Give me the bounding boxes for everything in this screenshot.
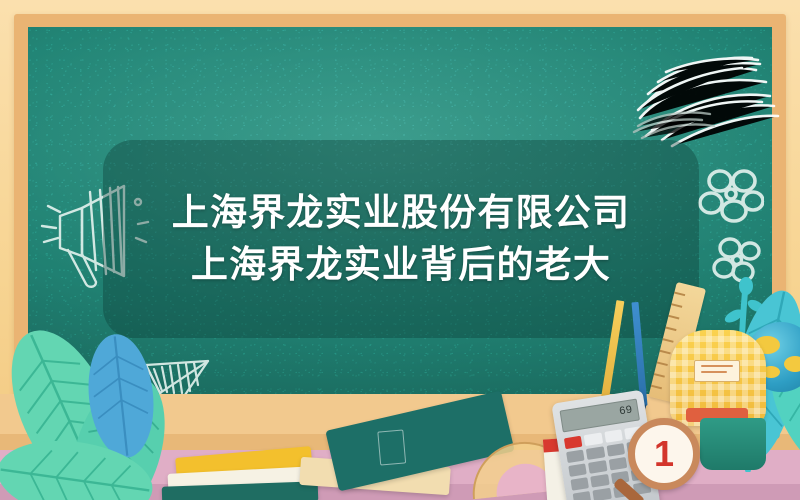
page-subtitle: 上海界龙实业背后的老大 xyxy=(191,240,611,290)
banner-canvas: 上海界龙实业股份有限公司 上海界龙实业背后的老大 xyxy=(0,0,800,500)
title-block: 上海界龙实业股份有限公司 上海界龙实业背后的老大 xyxy=(103,140,699,338)
page-title: 上海界龙实业股份有限公司 xyxy=(172,188,630,238)
